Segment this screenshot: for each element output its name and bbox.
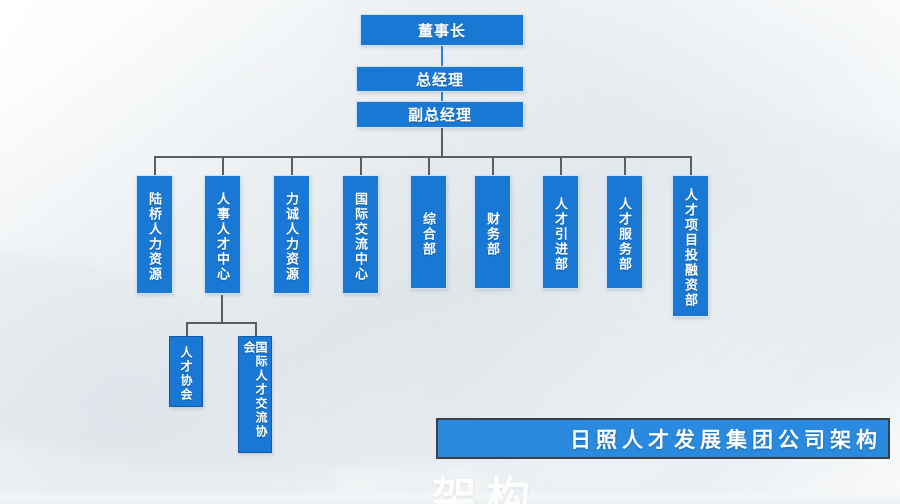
connector-gm-to-deputy — [441, 92, 443, 101]
org-node-label: 人才项目投融资部 — [684, 188, 697, 308]
org-node-dept-6[interactable]: 财务部 — [474, 175, 511, 289]
connector-drop-dept-4 — [360, 156, 362, 175]
connector-drop-dept-5 — [428, 156, 430, 175]
connector-deputy-to-bus — [441, 128, 443, 157]
title-banner[interactable]: 日照人才发展集团公司架构 — [436, 418, 890, 459]
org-node-dept-8[interactable]: 人才服务部 — [606, 175, 643, 289]
org-node-sub-2[interactable]: 国际人才交流协会 — [238, 336, 272, 453]
org-node-label: 财务部 — [486, 212, 499, 257]
connector-drop-dept-6 — [492, 156, 494, 175]
org-node-dept-3[interactable]: 力诚人力资源 — [273, 175, 310, 294]
title-banner-label: 日照人才发展集团公司架构 — [570, 424, 882, 454]
org-node-label: 人才引进部 — [554, 197, 567, 272]
org-node-label: 综合部 — [422, 212, 435, 257]
org-node-label: 人事人才中心 — [216, 192, 229, 282]
org-node-label: 总经理 — [416, 69, 464, 90]
org-node-dept-2[interactable]: 人事人才中心 — [204, 175, 241, 294]
org-node-label: 力诚人力资源 — [285, 192, 298, 282]
connector-drop-dept-7 — [560, 156, 562, 175]
org-node-dept-9[interactable]: 人才项目投融资部 — [672, 175, 709, 317]
org-node-label: 国际人才交流协会 — [243, 341, 267, 452]
connector-drop-dept-8 — [624, 156, 626, 175]
org-node-sub-1[interactable]: 人才协会 — [169, 336, 203, 407]
org-node-label: 董事长 — [418, 20, 466, 41]
connector-department-bus — [154, 156, 691, 158]
slide-canvas: 董事长 总经理 副总经理 陆桥人力资源 人事人才中心 力诚人力资源 国际交流中心… — [0, 0, 900, 504]
org-node-label: 副总经理 — [408, 104, 472, 125]
connector-drop-sub-2 — [255, 322, 257, 336]
org-node-label: 人才协会 — [180, 346, 192, 402]
org-node-general-manager[interactable]: 总经理 — [356, 66, 524, 92]
org-node-chairman[interactable]: 董事长 — [360, 14, 524, 46]
connector-drop-dept-2 — [222, 156, 224, 175]
connector-dept2-to-subbus — [221, 295, 223, 323]
connector-sub-bus — [186, 322, 257, 324]
org-node-dept-4[interactable]: 国际交流中心 — [342, 175, 379, 294]
org-node-deputy-general-manager[interactable]: 副总经理 — [356, 101, 524, 128]
org-node-label: 国际交流中心 — [354, 192, 367, 282]
org-node-label: 人才服务部 — [618, 197, 631, 272]
connector-chairman-to-gm — [441, 46, 443, 66]
connector-drop-dept-9 — [690, 156, 692, 175]
org-node-dept-5[interactable]: 综合部 — [410, 175, 447, 289]
org-node-dept-7[interactable]: 人才引进部 — [542, 175, 579, 289]
background-bottom-band — [0, 490, 900, 504]
connector-drop-dept-1 — [154, 156, 156, 175]
connector-drop-dept-3 — [291, 156, 293, 175]
connector-drop-sub-1 — [186, 322, 188, 336]
org-node-label: 陆桥人力资源 — [148, 192, 161, 282]
org-node-dept-1[interactable]: 陆桥人力资源 — [136, 175, 173, 294]
